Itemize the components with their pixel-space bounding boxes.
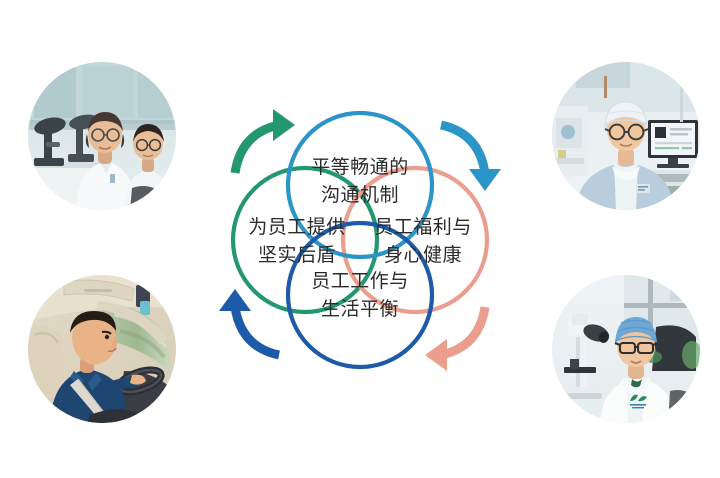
photo-driver <box>28 275 176 423</box>
cycle-diagram-svg: 平等畅通的 沟通机制 员工福利与 身心健康 员工工作与 生活平衡 为员工提供 坚… <box>195 75 525 405</box>
diagram-canvas: 平等畅通的 沟通机制 员工福利与 身心健康 员工工作与 生活平衡 为员工提供 坚… <box>0 0 720 478</box>
label-welfare-health: 员工福利与 身心健康 <box>374 216 472 266</box>
label-communication-line1: 平等畅通的 <box>311 156 409 178</box>
label-communication: 平等畅通的 沟通机制 <box>311 156 409 206</box>
arrow-bottom-left <box>219 289 279 355</box>
label-solid-support-line2: 坚实后盾 <box>258 244 336 266</box>
cycle-diagram: 平等畅通的 沟通机制 员工福利与 身心健康 员工工作与 生活平衡 为员工提供 坚… <box>195 75 525 405</box>
photo-lab-scientists <box>28 62 176 210</box>
label-welfare-health-line2: 身心健康 <box>384 244 462 266</box>
arrow-bottom-right <box>425 307 485 371</box>
label-work-life-balance: 员工工作与 生活平衡 <box>311 270 409 320</box>
photo-microscope-technician-art <box>552 275 700 423</box>
photo-cleanroom-engineer-art <box>552 62 700 210</box>
label-welfare-health-line1: 员工福利与 <box>374 216 472 238</box>
photo-cleanroom-engineer <box>552 62 700 210</box>
label-solid-support-line1: 为员工提供 <box>248 216 346 238</box>
photo-microscope-technician <box>552 275 700 423</box>
label-communication-line2: 沟通机制 <box>321 184 399 206</box>
label-work-life-balance-line1: 员工工作与 <box>311 270 409 292</box>
photo-lab-scientists-art <box>28 62 176 210</box>
photo-driver-art <box>28 275 176 423</box>
arrow-top-left <box>235 109 295 173</box>
label-solid-support: 为员工提供 坚实后盾 <box>248 216 346 266</box>
label-work-life-balance-line2: 生活平衡 <box>321 298 399 320</box>
arrow-top-right <box>441 125 501 191</box>
